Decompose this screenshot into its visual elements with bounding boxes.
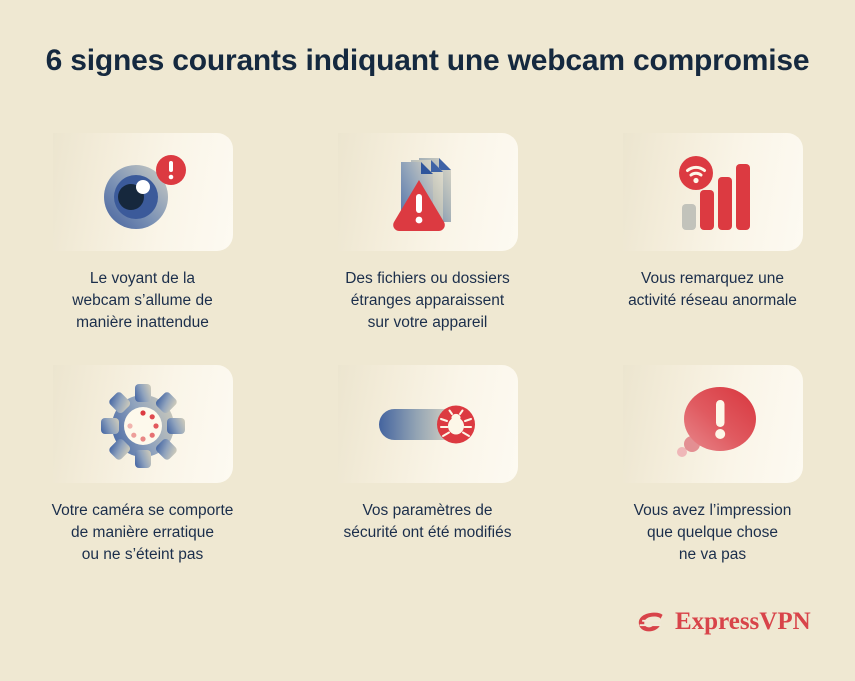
gear-spinner-icon <box>88 374 198 474</box>
row-spacer <box>285 334 570 365</box>
sign-caption-1: Le voyant de la webcam s’allume de maniè… <box>18 268 268 334</box>
icon-card-3 <box>623 133 803 251</box>
expressvpn-logo-text: ExpressVPN <box>675 608 811 636</box>
row-spacer <box>0 334 285 365</box>
sign-caption-4: Votre caméra se comporte de manière erra… <box>18 500 268 566</box>
expressvpn-logo[interactable]: ExpressVPN <box>632 605 811 639</box>
sign-item-6: Vous avez l’impression que quelque chose… <box>570 365 855 566</box>
expressvpn-logo-mark <box>632 605 666 639</box>
icon-card-2 <box>338 133 518 251</box>
sign-caption-6: Vous avez l’impression que quelque chose… <box>588 500 838 566</box>
files-warning-icon <box>373 142 483 242</box>
sign-item-3: Vous remarquez une activité réseau anorm… <box>570 133 855 334</box>
infographic-page: 6 signes courants indiquant une webcam c… <box>0 0 855 681</box>
network-activity-bars-icon <box>658 142 768 242</box>
row-spacer <box>570 334 855 365</box>
sign-caption-5: Vos paramètres de sécurité ont été modif… <box>303 500 553 544</box>
toggle-bug-icon <box>373 374 483 474</box>
sign-item-1: Le voyant de la webcam s’allume de maniè… <box>0 133 285 334</box>
signs-grid: Le voyant de la webcam s’allume de maniè… <box>0 133 855 566</box>
icon-card-5 <box>338 365 518 483</box>
webcam-lens-alert-icon <box>88 142 198 242</box>
icon-card-1 <box>53 133 233 251</box>
page-title: 6 signes courants indiquant une webcam c… <box>0 44 855 78</box>
sign-caption-3: Vous remarquez une activité réseau anorm… <box>588 268 838 312</box>
icon-card-6 <box>623 365 803 483</box>
sign-item-5: Vos paramètres de sécurité ont été modif… <box>285 365 570 566</box>
thought-bubble-alert-icon <box>658 374 768 474</box>
sign-caption-2: Des fichiers ou dossiers étranges appara… <box>303 268 553 334</box>
sign-item-4: Votre caméra se comporte de manière erra… <box>0 365 285 566</box>
sign-item-2: Des fichiers ou dossiers étranges appara… <box>285 133 570 334</box>
icon-card-4 <box>53 365 233 483</box>
